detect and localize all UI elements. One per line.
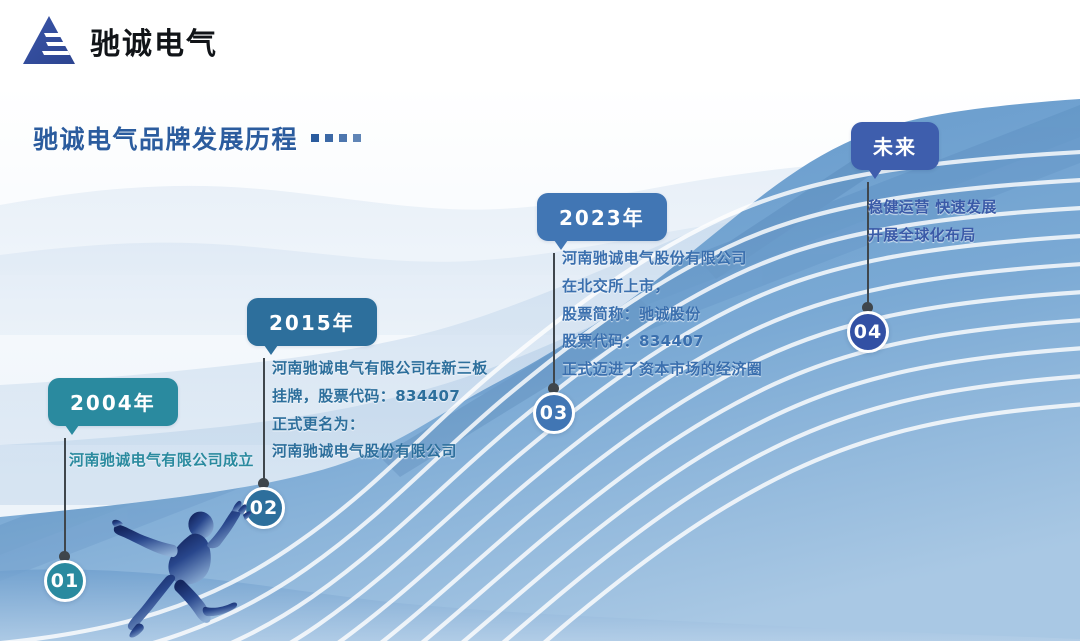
page-title: 驰诚电气品牌发展历程 [33, 120, 361, 156]
milestone-04-description: 稳健运营 快速发展 开展全球化布局 [868, 194, 997, 250]
milestone-03-connector-line [553, 253, 555, 388]
title-dot [325, 134, 333, 142]
milestone-01[interactable]: 2004年 [48, 378, 178, 426]
page-title-text: 驰诚电气品牌发展历程 [33, 120, 298, 156]
milestone-01-year-badge[interactable]: 2004年 [48, 378, 178, 426]
milestone-03-description: 河南驰诚电气股份有限公司 在北交所上市， 股票简称：驰诚股份 股票代码：8344… [562, 245, 762, 384]
title-dot-decoration [311, 134, 361, 142]
milestone-04-future-badge[interactable]: 未来 [851, 122, 939, 170]
milestone-02-connector-line [263, 358, 265, 483]
milestone-01-connector-line [64, 438, 66, 556]
milestone-01-marker[interactable]: 01 [44, 560, 86, 602]
triangle-e-logo-icon [20, 12, 78, 70]
milestone-03-year-label: 2023年 [559, 206, 645, 230]
milestone-01-year-label: 2004年 [70, 391, 156, 415]
title-dot [353, 134, 361, 142]
title-dot [339, 134, 347, 142]
brand-logo[interactable]: 驰诚电气 [20, 12, 218, 70]
milestone-04[interactable]: 未来 [851, 122, 939, 170]
milestone-02-year-badge[interactable]: 2015年 [247, 298, 377, 346]
running-athlete-silhouette-icon [112, 487, 262, 641]
brand-name: 驰诚电气 [90, 19, 218, 63]
milestone-03-marker[interactable]: 03 [533, 392, 575, 434]
milestone-03[interactable]: 2023年 [537, 193, 667, 241]
milestone-02-description: 河南驰诚电气有限公司在新三板 挂牌，股票代码：834407 正式更名为： 河南驰… [272, 355, 488, 466]
milestone-02-year-label: 2015年 [269, 311, 355, 335]
slide-canvas: 驰诚电气 驰诚电气品牌发展历程 2004年 河南驰诚电气有限公司成立 01 20… [0, 0, 1080, 641]
milestone-03-year-badge[interactable]: 2023年 [537, 193, 667, 241]
page-header: 驰诚电气 [0, 0, 1080, 85]
milestone-01-description: 河南驰诚电气有限公司成立 [69, 447, 254, 475]
title-dot [311, 134, 319, 142]
milestone-04-marker[interactable]: 04 [847, 311, 889, 353]
milestone-04-future-label: 未来 [873, 135, 917, 159]
milestone-02[interactable]: 2015年 [247, 298, 377, 346]
